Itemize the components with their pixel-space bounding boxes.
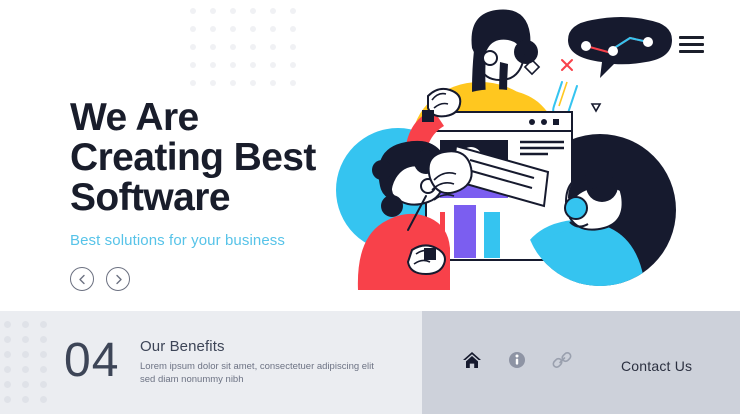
- landing-page: We Are Creating Best Software Best solut…: [0, 0, 740, 414]
- title-line-3: Software: [70, 176, 230, 219]
- prev-slide-button[interactable]: [70, 267, 94, 291]
- decorative-dot-grid-bottom: [4, 321, 58, 411]
- browser-dot: [553, 119, 559, 125]
- chevron-right-icon: [114, 274, 123, 285]
- speech-bubble-chart: [568, 17, 672, 78]
- red-cross-marker: [562, 60, 572, 70]
- triangle-outline-icon: [592, 104, 600, 111]
- home-icon[interactable]: [462, 351, 482, 370]
- benefit-title: Our Benefits: [140, 338, 380, 355]
- hand-lower-left: [408, 245, 445, 274]
- chevron-left-icon: [78, 274, 87, 285]
- contact-us-link[interactable]: Contact Us: [621, 358, 692, 374]
- browser-dot: [541, 119, 547, 125]
- benefit-block: Our Benefits Lorem ipsum dolor sit amet,…: [140, 338, 380, 386]
- benefit-number: 04: [64, 335, 119, 387]
- hero-illustration: [330, 0, 710, 300]
- decorative-dot-grid-top: [190, 8, 310, 98]
- next-slide-button[interactable]: [106, 267, 130, 291]
- browser-dot: [529, 119, 535, 125]
- footer-icon-group: [462, 350, 572, 370]
- link-icon[interactable]: [552, 350, 572, 370]
- title-line-1: We Are: [70, 96, 199, 139]
- title-line-2: Creating Best: [70, 136, 316, 179]
- benefit-description: Lorem ipsum dolor sit amet, consectetuer…: [140, 360, 380, 386]
- info-icon[interactable]: [508, 351, 526, 369]
